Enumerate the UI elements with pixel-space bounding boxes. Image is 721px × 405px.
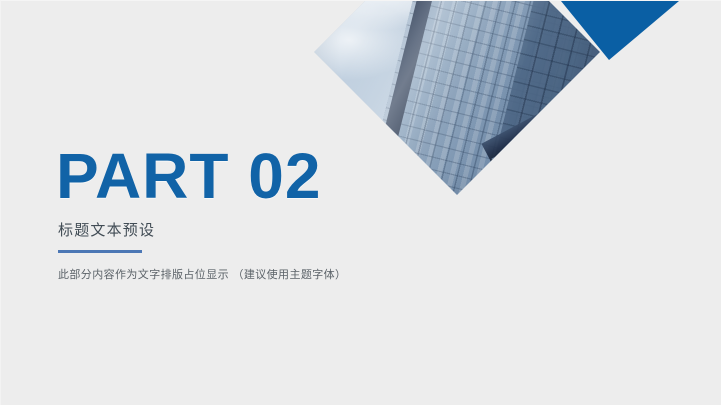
slide-canvas: PART 02 标题文本预设 此部分内容作为文字排版占位显示 （建议使用主题字体… [0, 0, 721, 405]
blue-triangle-icon [561, 1, 679, 60]
section-text-block: PART 02 标题文本预设 此部分内容作为文字排版占位显示 （建议使用主题字体… [56, 144, 476, 283]
section-subtitle: 标题文本预设 [58, 222, 476, 240]
blue-triangle-shape [561, 1, 679, 60]
title-divider [58, 250, 142, 253]
section-body-text: 此部分内容作为文字排版占位显示 （建议使用主题字体） [58, 268, 476, 283]
page-title: PART 02 [56, 144, 476, 208]
